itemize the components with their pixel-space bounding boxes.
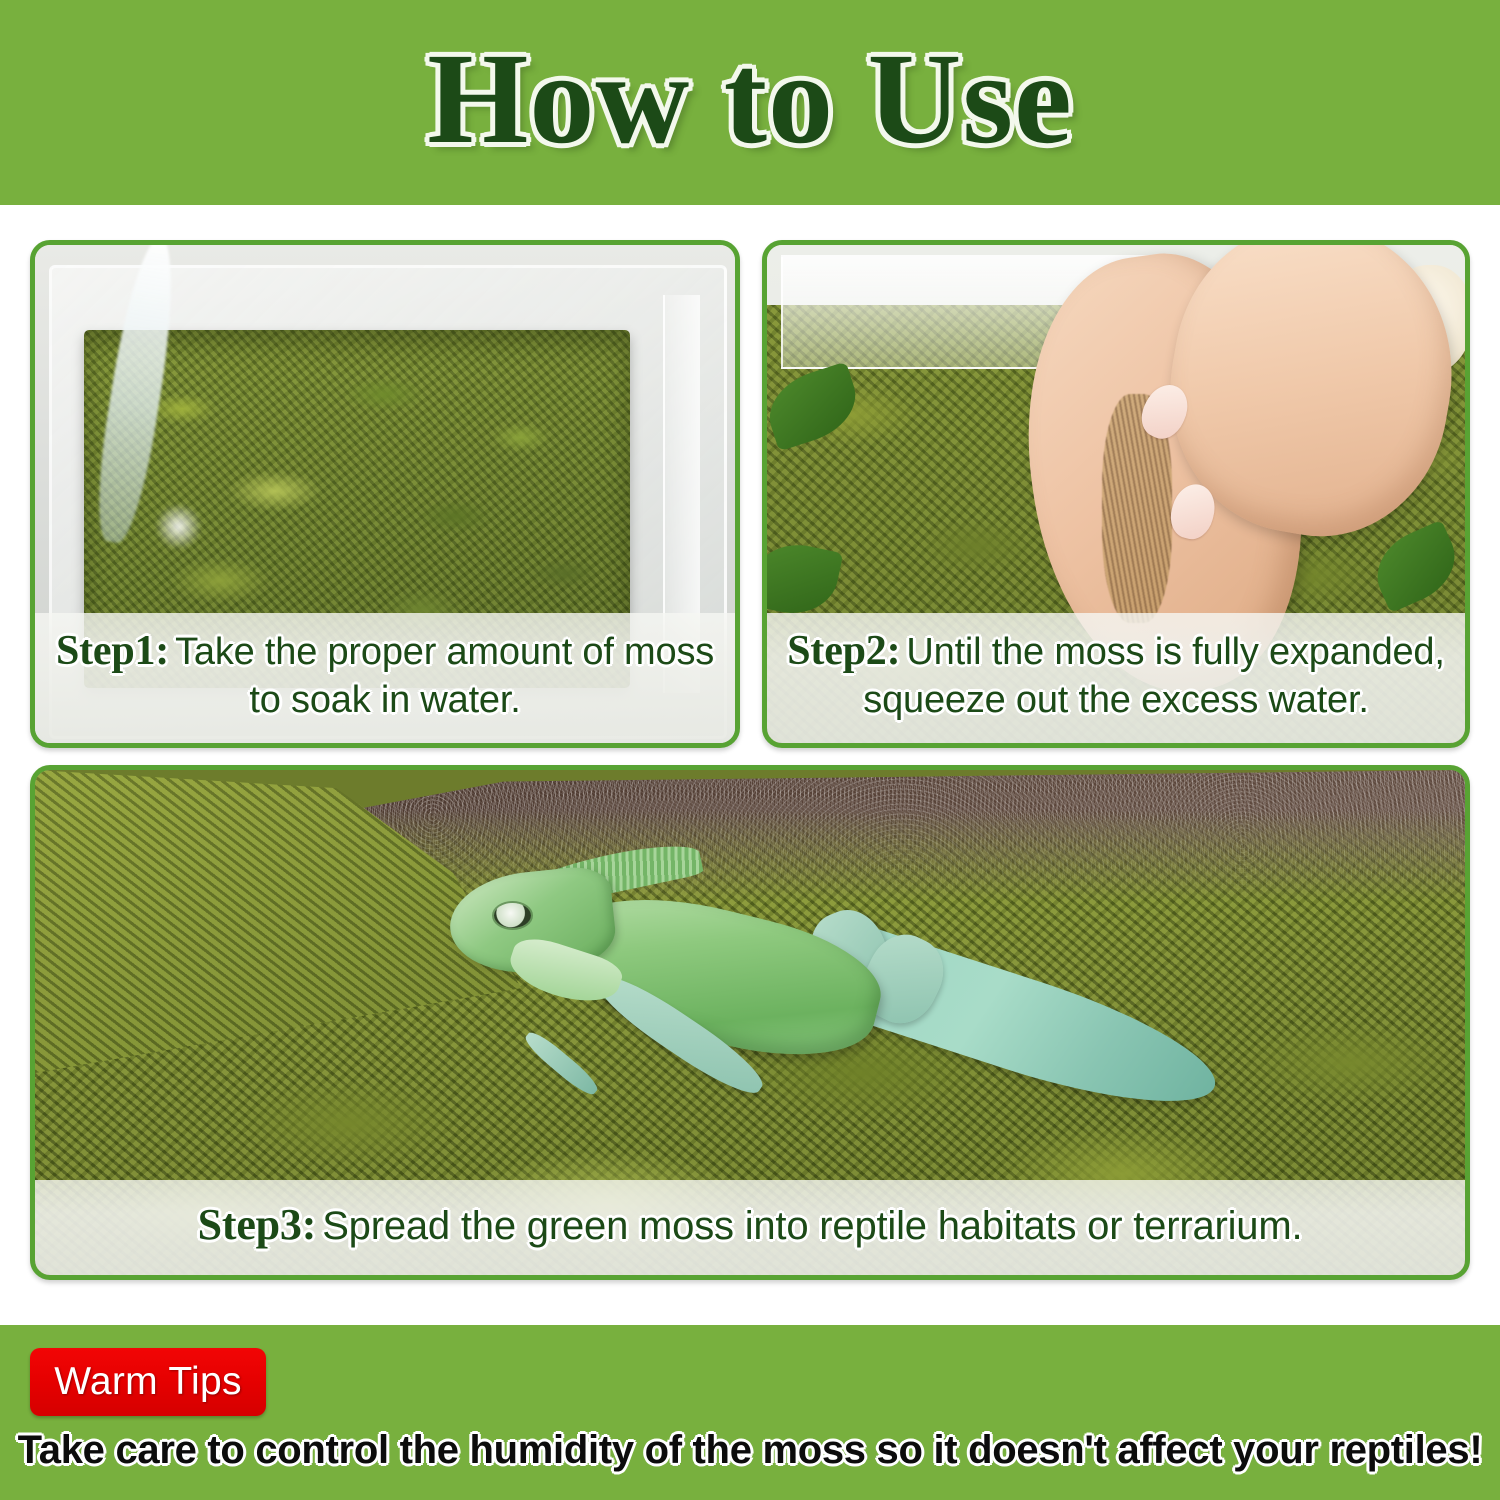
step-card-1: Step1:Take the proper amount of moss to …: [30, 240, 740, 748]
step1-label: Step1:: [56, 628, 169, 674]
step2-caption: Step2:Until the moss is fully expanded, …: [767, 613, 1465, 743]
warm-tips-badge-label: Warm Tips: [54, 1360, 242, 1404]
step-card-2: Step2:Until the moss is fully expanded, …: [762, 240, 1470, 748]
footer-band: Warm Tips Take care to control the humid…: [0, 1325, 1500, 1500]
water-splash-shape: [154, 504, 203, 549]
step1-text: Take the proper amount of moss to soak i…: [175, 631, 714, 721]
step2-label: Step2:: [787, 628, 900, 674]
step3-caption-text: Step3:Spread the green moss into reptile…: [198, 1198, 1303, 1252]
step1-caption-text: Step1:Take the proper amount of moss to …: [49, 626, 721, 724]
warm-tips-badge: Warm Tips: [30, 1348, 266, 1416]
step1-caption: Step1:Take the proper amount of moss to …: [35, 613, 735, 743]
step3-text: Spread the green moss into reptile habit…: [322, 1204, 1302, 1248]
step2-caption-text: Step2:Until the moss is fully expanded, …: [781, 626, 1451, 724]
step3-label: Step3:: [198, 1200, 317, 1249]
step-card-3: Step3:Spread the green moss into reptile…: [30, 765, 1470, 1280]
step3-caption: Step3:Spread the green moss into reptile…: [35, 1180, 1465, 1275]
warm-tip-text: Take care to control the humidity of the…: [0, 1428, 1500, 1473]
lizard-illustration: [450, 841, 1194, 1154]
page-title: How to Use: [427, 34, 1072, 172]
lizard-foot-shape: [521, 1027, 601, 1099]
step2-text: Until the moss is fully expanded, squeez…: [863, 631, 1444, 721]
header-band: How to Use: [0, 0, 1500, 205]
